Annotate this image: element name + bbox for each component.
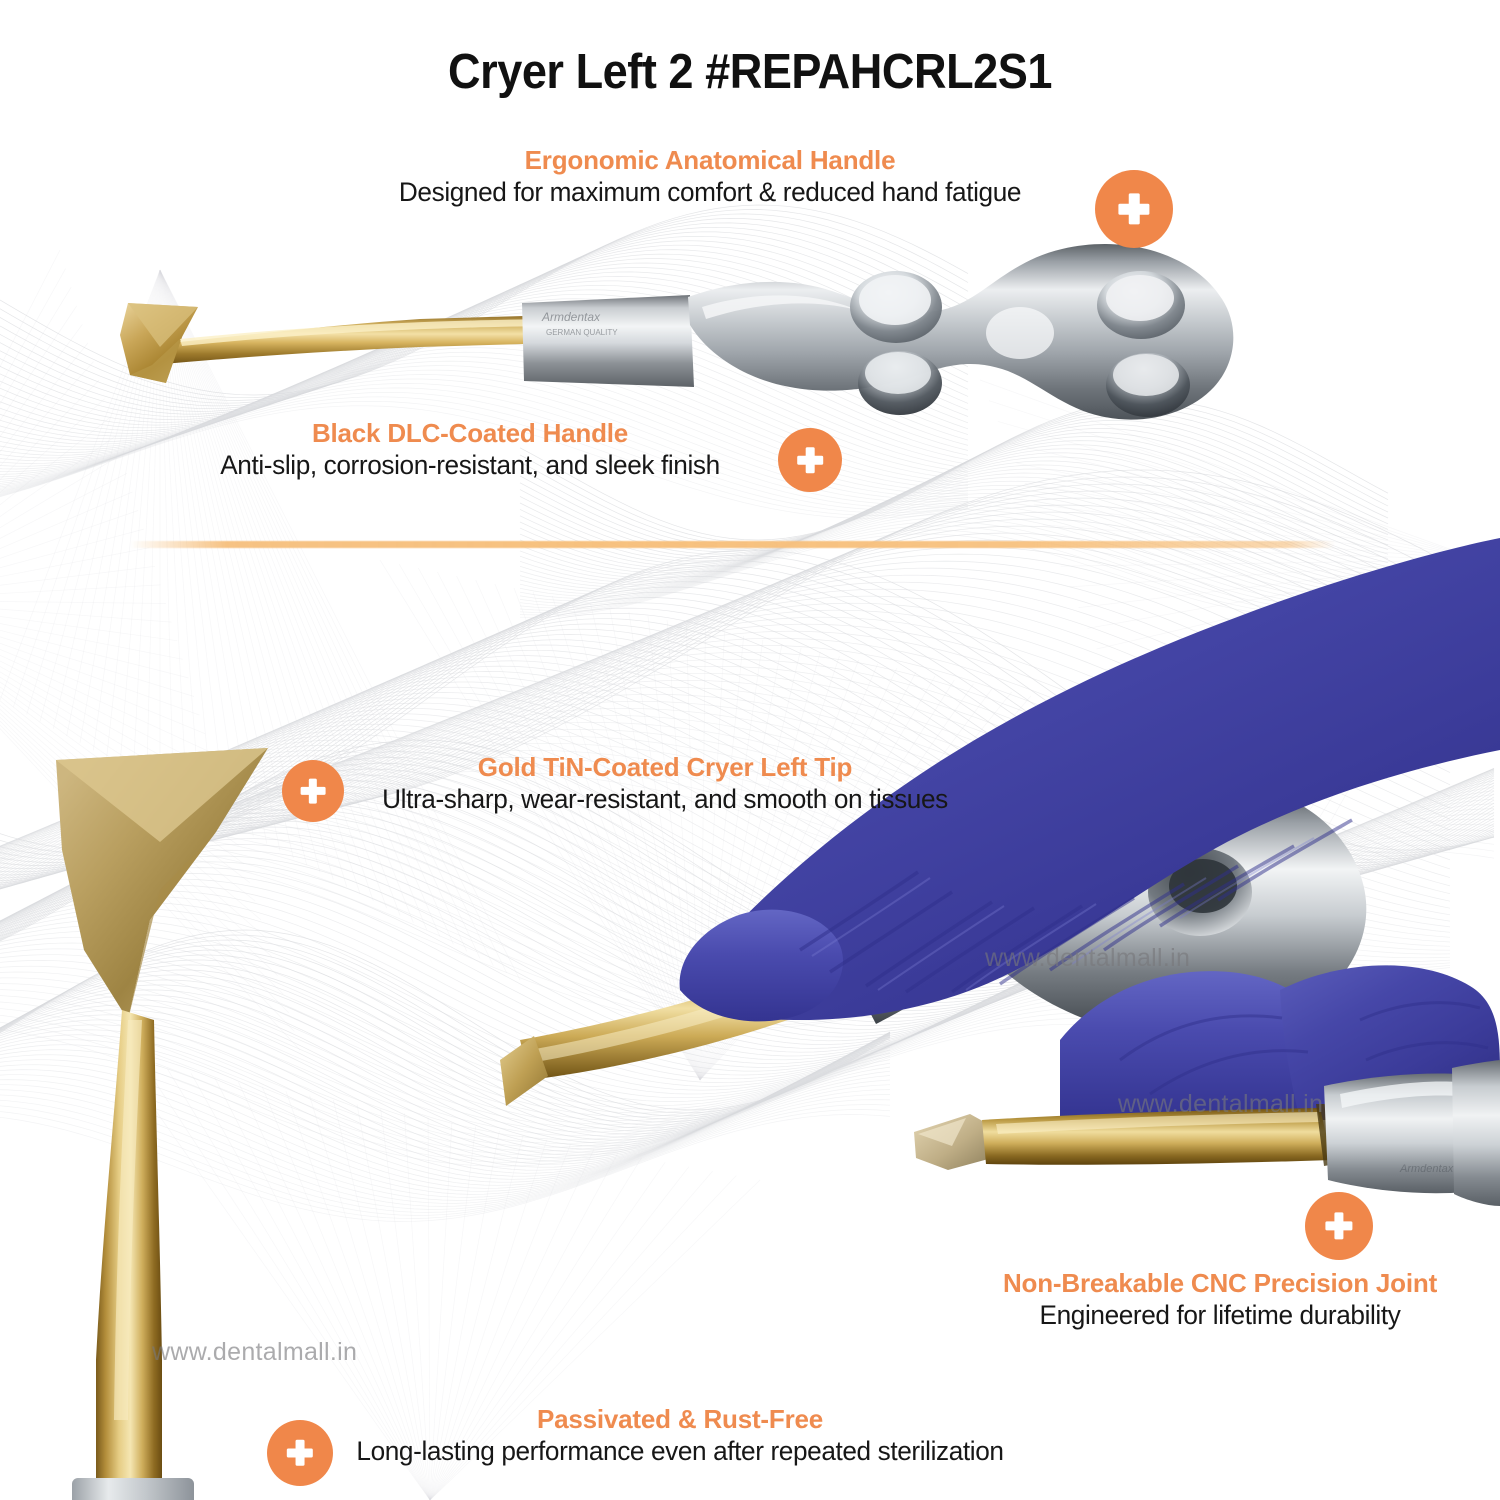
- callout-gold-tin-tip: Gold TiN-Coated Cryer Left Tip Ultra-sha…: [360, 752, 970, 816]
- watermark-joint: www.dentalmall.in: [1118, 1090, 1323, 1119]
- callout-gold-tin-tip-sub: Ultra-sharp, wear-resistant, and smooth …: [369, 783, 961, 817]
- plus-icon-cnc-joint[interactable]: [1305, 1192, 1373, 1260]
- callout-passivated-headline: Passivated & Rust-Free: [330, 1404, 1030, 1435]
- callout-ergonomic-handle-headline: Ergonomic Anatomical Handle: [330, 145, 1090, 176]
- plus-icon-dlc-handle[interactable]: [778, 428, 842, 492]
- product-photo-gloved-hand: [500, 520, 1500, 1120]
- infographic-canvas: Armdentax GERMAN QUALITY: [0, 0, 1500, 1500]
- callout-cnc-joint-sub: Engineered for lifetime durability: [958, 1299, 1482, 1333]
- callout-cnc-joint-headline: Non-Breakable CNC Precision Joint: [950, 1268, 1490, 1299]
- callout-dlc-handle-headline: Black DLC-Coated Handle: [190, 418, 750, 449]
- callout-gold-tin-tip-headline: Gold TiN-Coated Cryer Left Tip: [360, 752, 970, 783]
- page-title: Cryer Left 2 #REPAHCRL2S1: [60, 44, 1440, 100]
- plus-icon-gold-tin-tip[interactable]: [282, 760, 344, 822]
- watermark-bottom-left: www.dentalmall.in: [152, 1338, 357, 1367]
- callout-dlc-handle: Black DLC-Coated Handle Anti-slip, corro…: [190, 418, 750, 482]
- svg-text:GERMAN QUALITY: GERMAN QUALITY: [546, 328, 618, 337]
- plus-icon-passivated[interactable]: [267, 1420, 333, 1486]
- callout-cnc-joint: Non-Breakable CNC Precision Joint Engine…: [950, 1268, 1490, 1332]
- svg-text:Armdentax: Armdentax: [1399, 1163, 1454, 1175]
- callout-passivated: Passivated & Rust-Free Long-lasting perf…: [330, 1404, 1030, 1468]
- callout-ergonomic-handle-sub: Designed for maximum comfort & reduced h…: [341, 176, 1078, 210]
- callout-ergonomic-handle: Ergonomic Anatomical Handle Designed for…: [330, 145, 1090, 209]
- product-photo-tip-closeup: [10, 720, 340, 1500]
- plus-icon-ergonomic-handle[interactable]: [1095, 170, 1173, 248]
- callout-dlc-handle-sub: Anti-slip, corrosion-resistant, and slee…: [198, 449, 741, 483]
- watermark-center: www.dentalmall.in: [985, 944, 1190, 973]
- callout-passivated-sub: Long-lasting performance even after repe…: [341, 1435, 1020, 1469]
- product-photo-joint-closeup: Armdentax: [900, 1060, 1500, 1220]
- svg-text:Armdentax: Armdentax: [541, 310, 601, 324]
